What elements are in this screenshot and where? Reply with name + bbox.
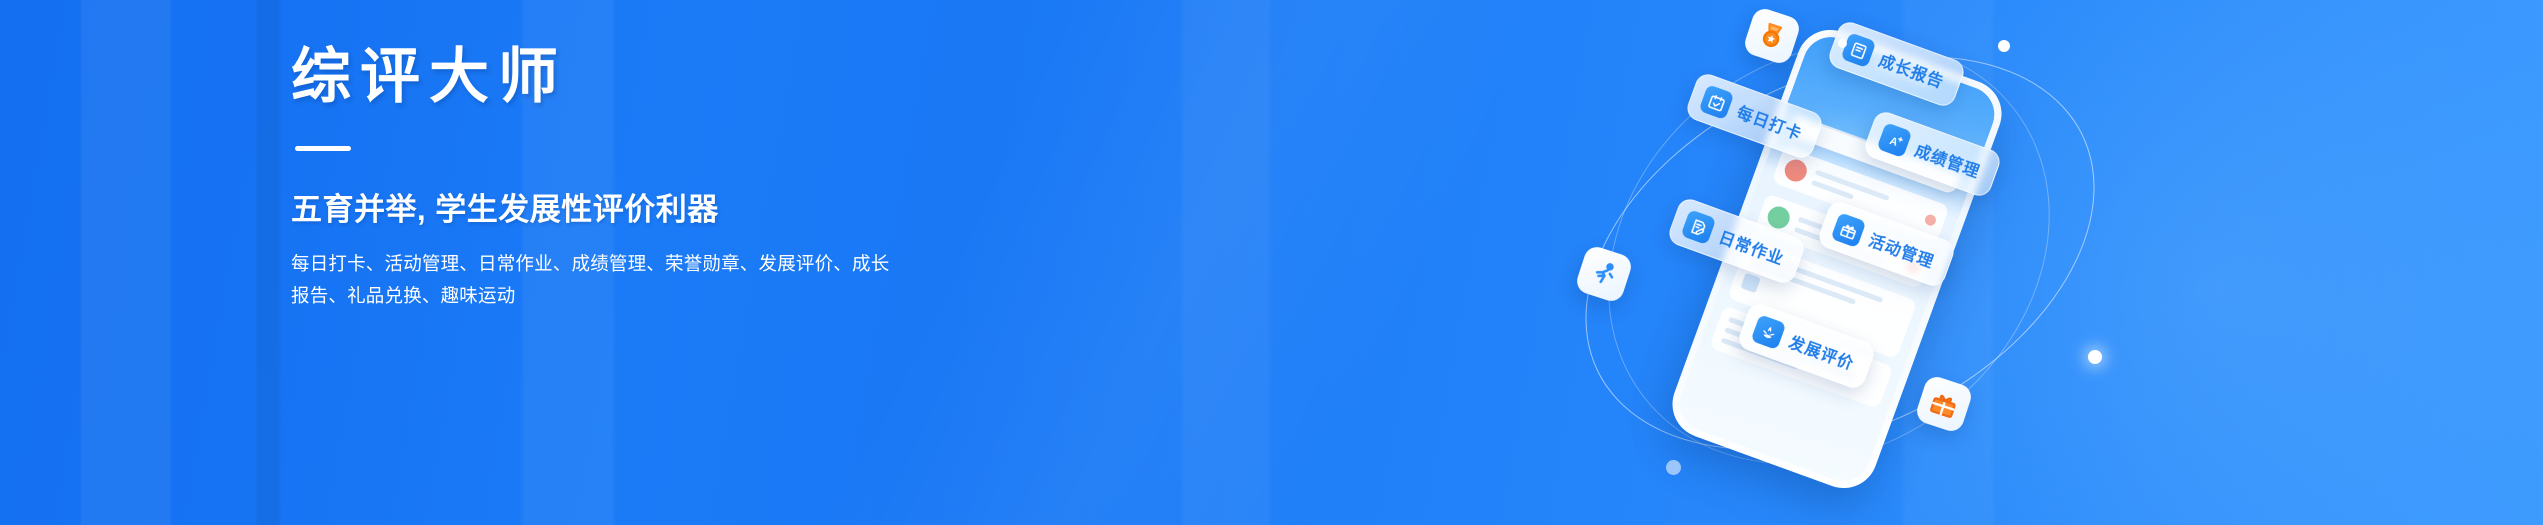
banner-description: 每日打卡、活动管理、日常作业、成绩管理、荣誉勋章、发展评价、成长 报告、礼品兑换… (291, 248, 831, 312)
decorative-dot (1998, 40, 2010, 52)
feature-card-label: 每日打卡 (1734, 99, 1806, 145)
feature-card-label: 日常作业 (1716, 224, 1788, 270)
feature-card-label: 发展评价 (1786, 329, 1858, 375)
svg-text:A: A (1888, 134, 1900, 148)
calendar-check-icon (1698, 84, 1734, 120)
title-divider (295, 146, 351, 151)
banner-headline: 五育并举, 学生发展性评价利器 (291, 184, 1191, 229)
homework-pencil-icon (1680, 209, 1716, 245)
decorative-dot (1838, 39, 1847, 48)
banner-text-block: 综评大师 五育并举, 学生发展性评价利器 每日打卡、活动管理、日常作业、成绩管理… (291, 45, 1191, 312)
decorative-dot (1666, 460, 1681, 475)
grade-a-plus-icon: A (1876, 122, 1912, 158)
decorative-dot (2088, 350, 2102, 364)
feature-card-label: 成长报告 (1876, 47, 1948, 93)
description-line-1: 每日打卡、活动管理、日常作业、成绩管理、荣誉勋章、发展评价、成长 (291, 248, 831, 280)
promo-banner: 综评大师 五育并举, 学生发展性评价利器 每日打卡、活动管理、日常作业、成绩管理… (0, 0, 2543, 525)
gift-icon (1830, 212, 1866, 248)
description-line-2: 报告、礼品兑换、趣味运动 (291, 280, 831, 312)
page-title: 综评大师 (291, 45, 1191, 108)
lotus-flower-icon (1750, 314, 1786, 350)
feature-card-label: 成绩管理 (1912, 137, 1984, 183)
feature-card-label: 活动管理 (1866, 227, 1938, 273)
report-icon (1840, 32, 1876, 68)
banner-illustration: 成长报告 A 成绩管理 每日打卡 (1548, 0, 2148, 525)
